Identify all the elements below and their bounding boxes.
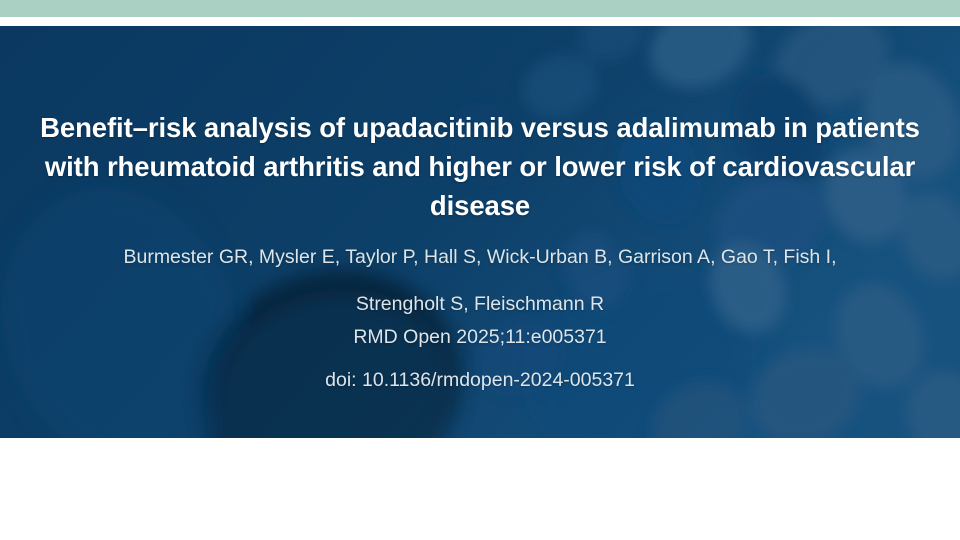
footer-logo-bar: University of Glasgow — [0, 438, 960, 540]
top-white-divider — [0, 17, 960, 26]
page-title: Benefit–risk analysis of upadacitinib ve… — [28, 108, 932, 225]
hero-text-block: Benefit–risk analysis of upadacitinib ve… — [0, 26, 960, 438]
journal-citation: RMD Open 2025;11:e005371 — [40, 316, 920, 359]
presentation-slide: Benefit–risk analysis of upadacitinib ve… — [0, 0, 960, 540]
citation-block: RMD Open 2025;11:e005371 doi: 10.1136/rm… — [40, 316, 920, 402]
author-line-1: Burmester GR, Mysler E, Taylor P, Hall S… — [40, 234, 920, 281]
top-green-band — [0, 0, 960, 17]
doi-text: doi: 10.1136/rmdopen-2024-005371 — [40, 359, 920, 402]
hero-banner: Benefit–risk analysis of upadacitinib ve… — [0, 26, 960, 438]
author-list: Burmester GR, Mysler E, Taylor P, Hall S… — [40, 234, 920, 328]
